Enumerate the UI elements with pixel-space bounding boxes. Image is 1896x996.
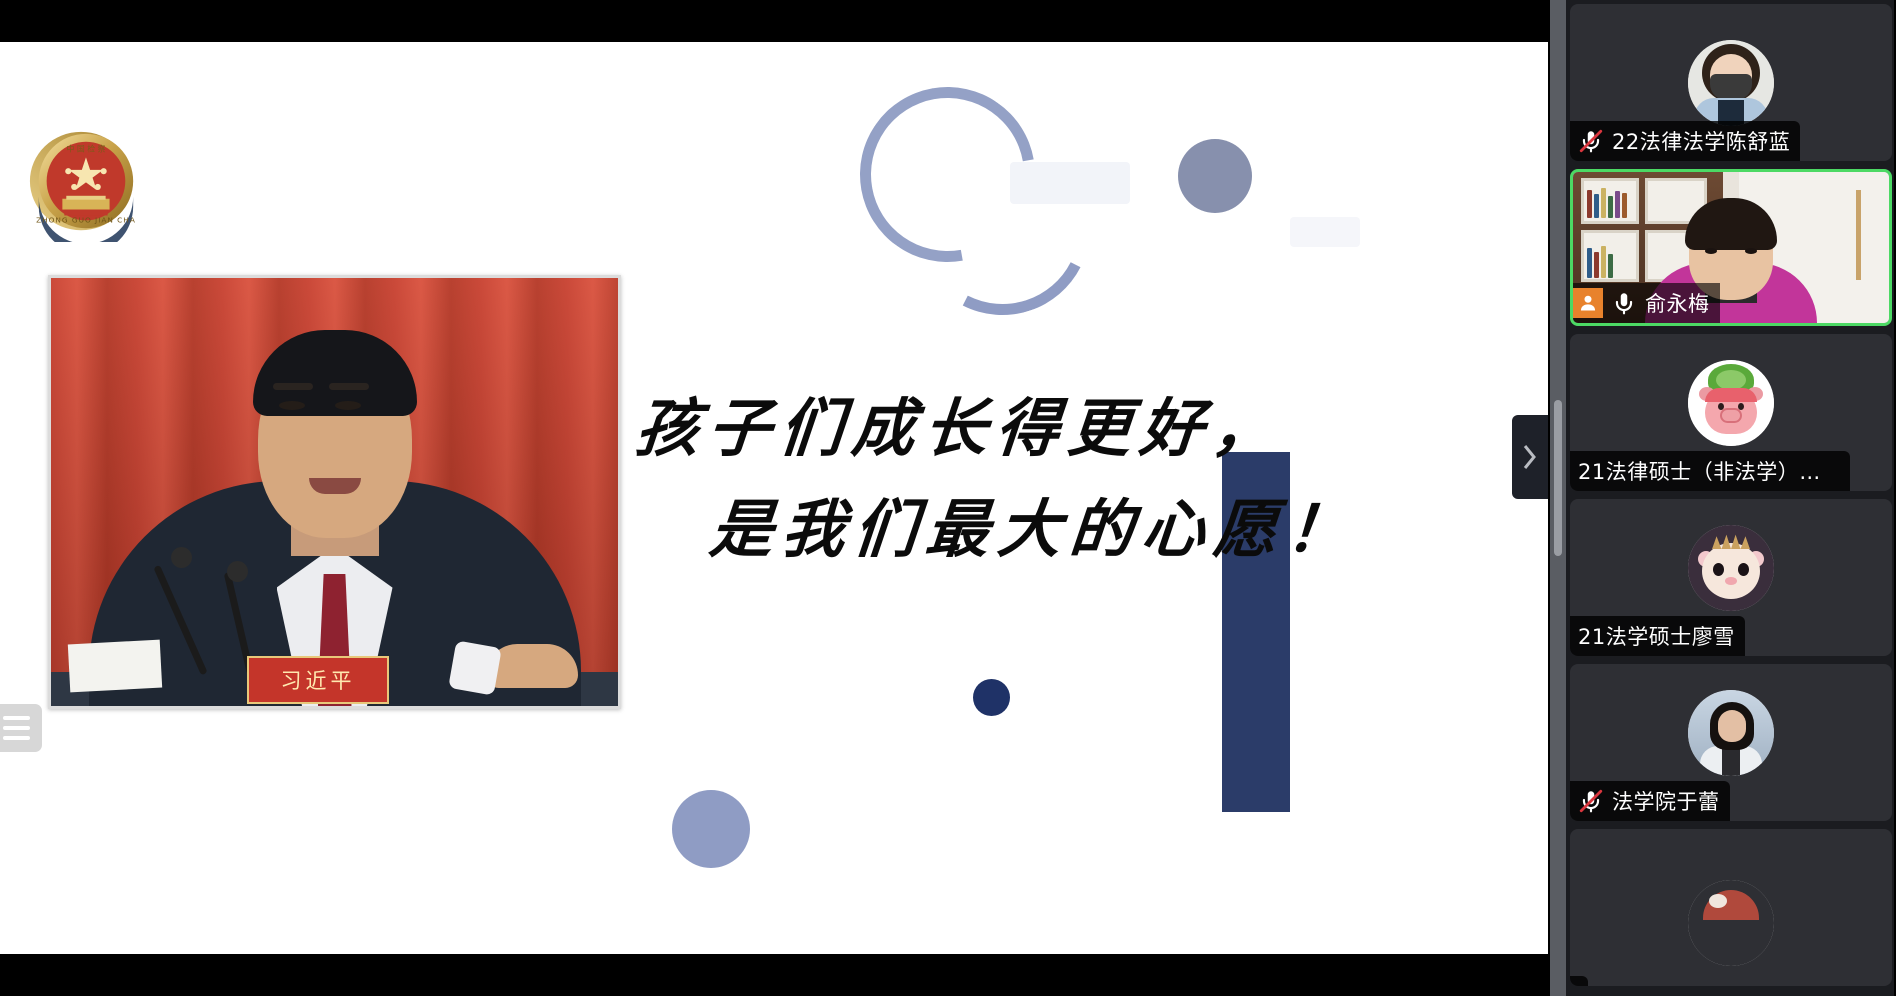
participant-footer: 21法学硕士廖雪 — [1570, 616, 1745, 656]
participant-tile[interactable]: 22法律法学陈舒蓝 — [1570, 4, 1892, 161]
participant-footer: 21法律硕士（非法学）朱… — [1570, 451, 1850, 491]
decorative-dot-navy — [973, 679, 1010, 716]
photo-microphone-ball-1 — [171, 547, 192, 568]
participant-tile-active-speaker[interactable]: 俞永梅 — [1570, 169, 1892, 326]
list-icon-bar — [3, 726, 30, 730]
host-badge — [1573, 288, 1603, 318]
gallery-scrollbar-thumb[interactable] — [1554, 400, 1562, 556]
panel-toggle-button[interactable] — [1512, 415, 1548, 499]
participant-name: 21法学硕士廖雪 — [1578, 621, 1735, 651]
photo-brow-left — [273, 383, 313, 390]
svg-text:ZHONG GUO JIAN CHA: ZHONG GUO JIAN CHA — [36, 215, 136, 224]
avatar — [1688, 40, 1774, 126]
svg-text:中 国 检 察: 中 国 检 察 — [66, 144, 105, 154]
slide-list-button[interactable] — [0, 704, 42, 752]
mic-unmuted-icon — [1611, 290, 1637, 316]
photo-eye-right — [335, 401, 361, 410]
photo-paper — [68, 640, 162, 693]
participant-tile[interactable]: 法学院于蕾 — [1570, 664, 1892, 821]
participant-gallery[interactable]: 22法律法学陈舒蓝 — [1566, 0, 1896, 996]
shared-screen-region[interactable]: 中 国 检 察 ZHONG GUO JIAN CHA — [0, 0, 1548, 996]
photo-brow-right — [329, 383, 369, 390]
photo-microphone-ball-2 — [227, 561, 248, 582]
headline-line-2: 是我们最大的心愿！ — [632, 479, 1241, 580]
list-icon-row-3 — [0, 736, 42, 740]
headline-line-1: 孩子们成长得更好， — [632, 378, 1241, 479]
avatar — [1688, 360, 1774, 446]
list-icon-bar — [3, 736, 30, 740]
participant-name: 俞永梅 — [1645, 288, 1710, 318]
participant-footer: 俞永梅 — [1573, 283, 1720, 323]
participant-name: 22法律法学陈舒蓝 — [1612, 126, 1790, 156]
participant-footer — [1570, 976, 1588, 986]
decorative-faint-rect-2 — [1290, 217, 1360, 247]
photo-eye-left — [279, 401, 305, 410]
avatar — [1688, 525, 1774, 611]
participant-name: 法学院于蕾 — [1612, 786, 1720, 816]
participant-tile-partial[interactable] — [1570, 829, 1892, 986]
participant-tile[interactable]: 21法律硕士（非法学）朱… — [1570, 334, 1892, 491]
photo-name-plate: 习近平 — [247, 656, 389, 704]
participant-tile[interactable]: 21法学硕士廖雪 — [1570, 499, 1892, 656]
list-icon-bar — [3, 716, 30, 720]
letterbox-top — [0, 0, 1548, 42]
chevron-right-icon — [1520, 442, 1540, 472]
photo-cuff — [448, 640, 502, 695]
decorative-circle-large — [1178, 139, 1252, 213]
participant-footer: 法学院于蕾 — [1570, 781, 1730, 821]
gallery-scrollbar[interactable] — [1550, 0, 1566, 996]
mic-muted-icon — [1578, 788, 1604, 814]
avatar — [1688, 880, 1774, 966]
mic-muted-icon — [1578, 128, 1604, 154]
participant-footer: 22法律法学陈舒蓝 — [1570, 121, 1800, 161]
procuratorate-emblem-icon: 中 国 检 察 ZHONG GUO JIAN CHA — [25, 124, 143, 242]
letterbox-bottom — [0, 954, 1548, 996]
list-icon-row-2 — [0, 726, 42, 730]
avatar — [1688, 690, 1774, 776]
list-icon-row-1 — [0, 716, 42, 720]
slide-headline: 孩子们成长得更好， 是我们最大的心愿！ — [636, 378, 1236, 580]
meeting-window: 中 国 检 察 ZHONG GUO JIAN CHA — [0, 0, 1896, 996]
decorative-circle-bottom — [672, 790, 750, 868]
presentation-slide: 中 国 检 察 ZHONG GUO JIAN CHA — [0, 42, 1548, 954]
person-icon — [1578, 293, 1598, 313]
photo-mouth — [309, 478, 361, 494]
participant-name: 21法律硕士（非法学）朱… — [1578, 456, 1840, 486]
photo-name-plate-text: 习近平 — [281, 665, 356, 695]
slide-speaker-photo: 习近平 — [48, 275, 621, 709]
